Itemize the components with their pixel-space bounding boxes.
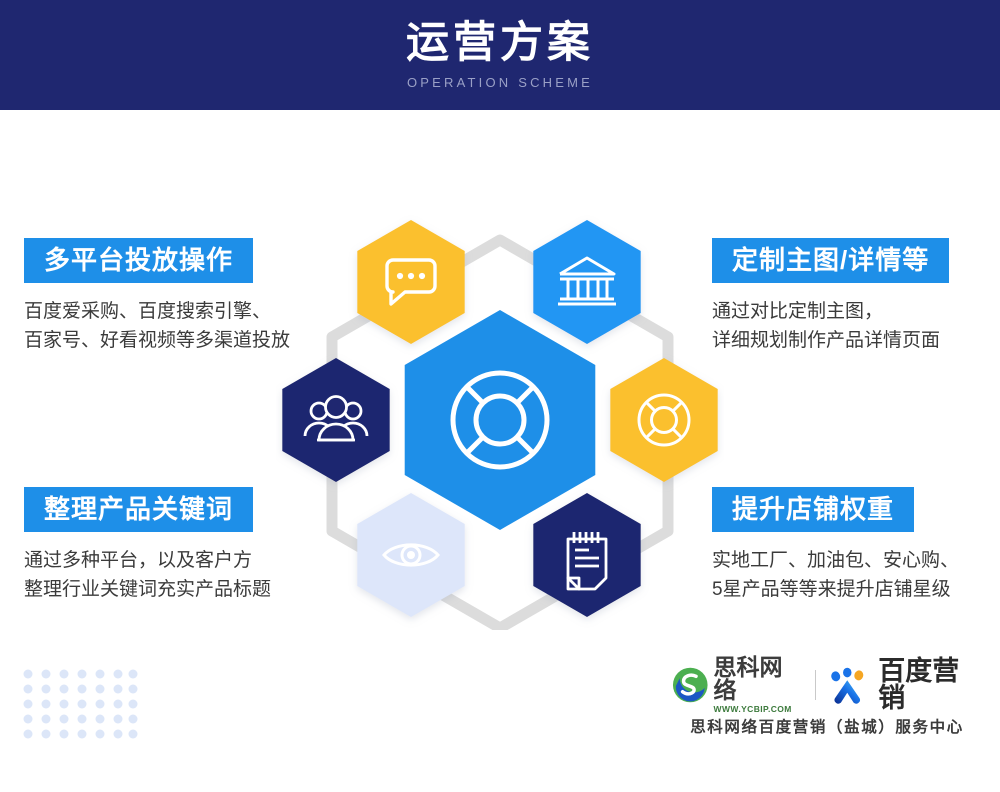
block-description-line: 通过多种平台，以及客户方 xyxy=(24,546,271,575)
hexagon-node-lifebuoy[interactable] xyxy=(610,358,717,482)
block-description-line: 详细规划制作产品详情页面 xyxy=(712,326,949,355)
sike-logo-url: WWW.YCBIP.COM xyxy=(714,705,802,714)
block-tag-label: 整理产品关键词 xyxy=(24,487,253,532)
logo-divider xyxy=(815,670,816,700)
hexagon-node-chat[interactable] xyxy=(357,220,464,344)
info-block-product-keywords: 整理产品关键词 通过多种平台，以及客户方 整理行业关键词充实产品标题 xyxy=(24,487,271,605)
block-tag-label: 定制主图/详情等 xyxy=(712,238,949,283)
footer-branding: 思科网络 WWW.YCBIP.COM 百度营销 xyxy=(672,662,982,737)
block-description-line: 5星产品等等来提升店铺星级 xyxy=(712,575,959,604)
footer-caption: 思科网络百度营销（盐城）服务中心 xyxy=(672,715,982,737)
block-description-line: 实地工厂、加油包、安心购、 xyxy=(712,546,959,575)
block-description: 通过对比定制主图， 详细规划制作产品详情页面 xyxy=(712,297,949,356)
info-block-multi-platform: 多平台投放操作 百度爱采购、百度搜索引擎、 百家号、好看视频等多渠道投放 xyxy=(24,238,290,356)
block-description: 通过多种平台，以及客户方 整理行业关键词充实产品标题 xyxy=(24,546,271,605)
footer-logo-row: 思科网络 WWW.YCBIP.COM 百度营销 xyxy=(672,662,982,708)
sike-logo-name: 思科网络 xyxy=(714,656,802,702)
page-subtitle: OPERATION SCHEME xyxy=(407,76,593,89)
dot-grid-decoration xyxy=(22,668,138,745)
block-tag-label: 多平台投放操作 xyxy=(24,238,253,283)
info-block-custom-main-image: 定制主图/详情等 通过对比定制主图， 详细规划制作产品详情页面 xyxy=(712,238,949,356)
block-description-line: 通过对比定制主图， xyxy=(712,297,949,326)
block-description: 实地工厂、加油包、安心购、 5星产品等等来提升店铺星级 xyxy=(712,546,959,605)
sike-logo-text: 思科网络 WWW.YCBIP.COM xyxy=(714,656,802,714)
block-tag-label: 提升店铺权重 xyxy=(712,487,914,532)
page-header: 运营方案 OPERATION SCHEME xyxy=(0,0,1000,110)
hexagon-node-people[interactable] xyxy=(282,358,389,482)
info-block-shop-weight: 提升店铺权重 实地工厂、加油包、安心购、 5星产品等等来提升店铺星级 xyxy=(712,487,959,605)
block-description-line: 整理行业关键词充实产品标题 xyxy=(24,575,271,604)
page-title: 运营方案 xyxy=(406,22,594,65)
baidu-logo-name: 百度营销 xyxy=(878,658,982,712)
hexagon-diagram xyxy=(276,210,724,630)
block-description: 百度爱采购、百度搜索引擎、 百家号、好看视频等多渠道投放 xyxy=(24,297,290,356)
sike-network-logo: 思科网络 WWW.YCBIP.COM xyxy=(672,656,802,714)
block-description-line: 百家号、好看视频等多渠道投放 xyxy=(24,326,290,355)
block-description-line: 百度爱采购、百度搜索引擎、 xyxy=(24,297,290,326)
hexagon-center-node[interactable] xyxy=(405,310,596,530)
sike-s-mark-icon xyxy=(672,666,709,704)
baidu-paw-icon xyxy=(829,666,871,704)
baidu-marketing-logo: 百度营销 xyxy=(829,658,982,712)
